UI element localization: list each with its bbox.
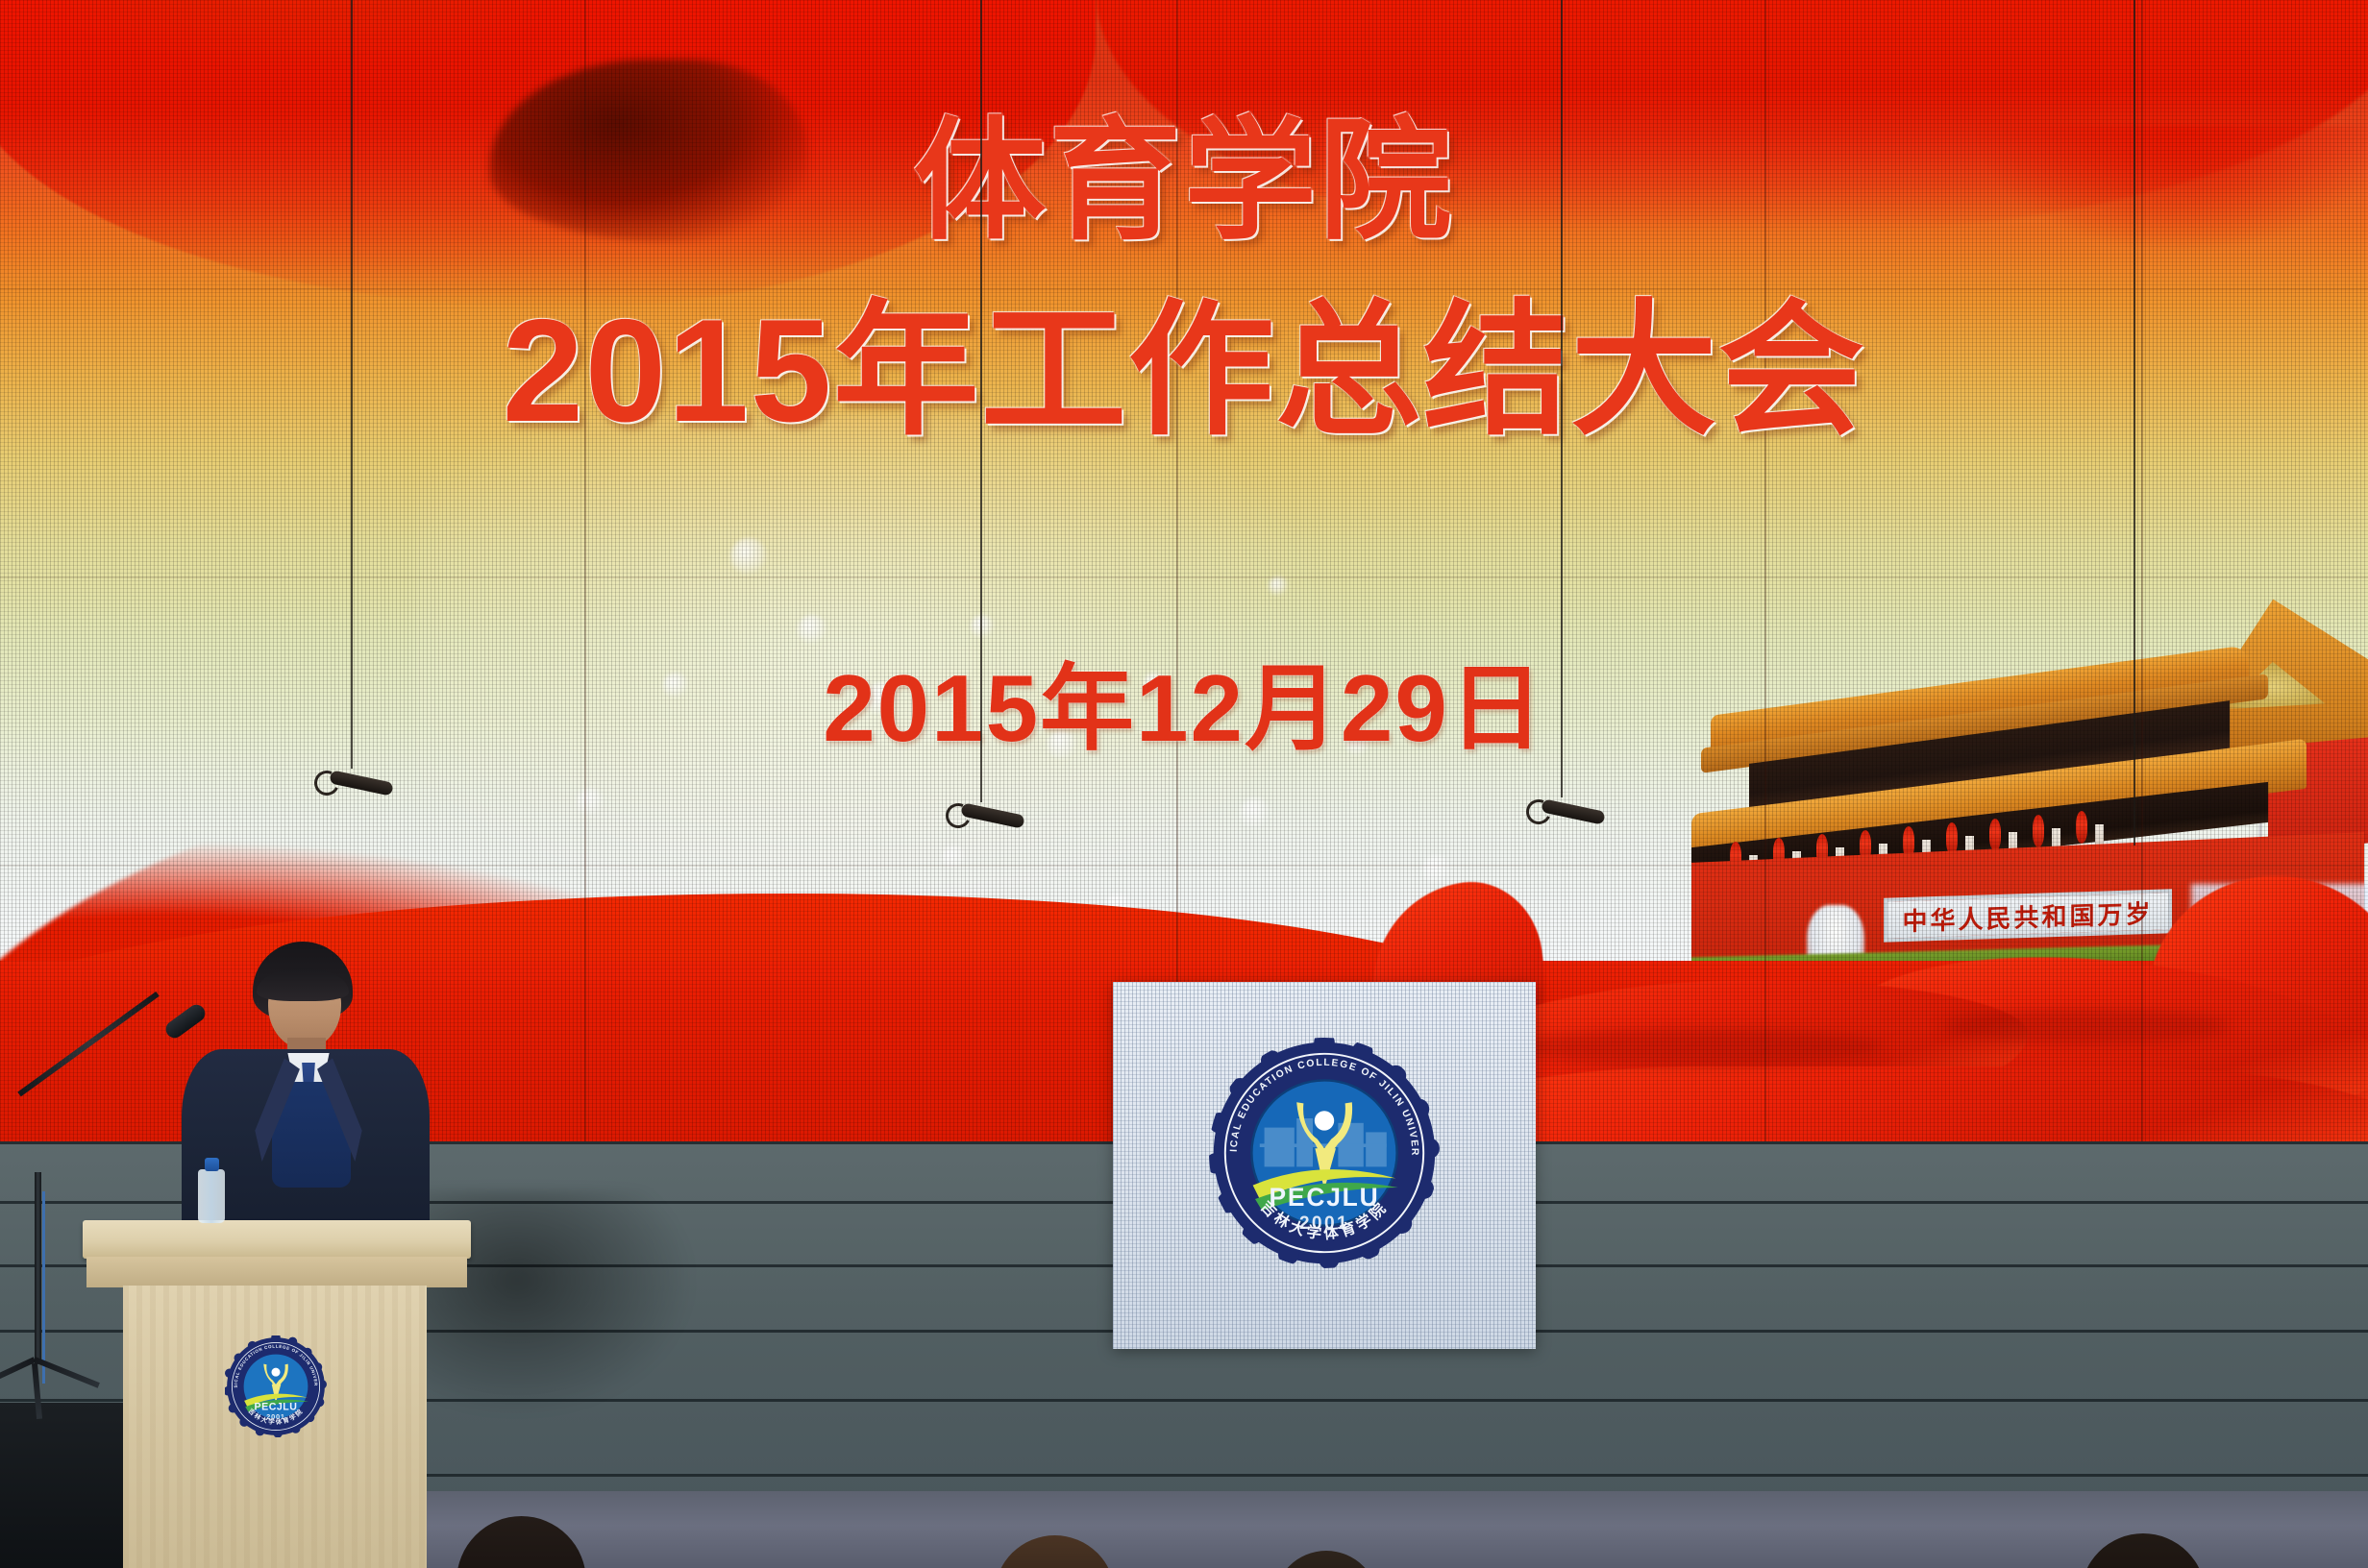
- title-line-1: 体育学院: [0, 115, 2368, 248]
- mic-tripod-leg: [0, 1357, 36, 1394]
- mic-cable: [2134, 0, 2135, 845]
- mic-cable: [980, 0, 982, 802]
- podium-college-emblem-icon: PECJLU 2001 PHYSICAL EDUCATION COLLEGE O…: [225, 1335, 327, 1437]
- emblem-display-panel: PECJLU 2001 PHYSICAL EDUCATION COLLEGE O…: [1113, 982, 1536, 1349]
- bottle-cap: [205, 1158, 219, 1171]
- mic-tripod-leg: [32, 1363, 42, 1419]
- title-line-2: 2015年工作总结大会: [0, 298, 2368, 444]
- mic-cable: [1561, 0, 1563, 797]
- water-bottle: [198, 1158, 225, 1223]
- mic-vertical-pole: [35, 1172, 41, 1364]
- emblem-acronym: PECJLU: [1270, 1183, 1380, 1212]
- conference-stage-photo: 中华人民共和国万岁 体育学院 201: [0, 0, 2368, 1568]
- event-date: 2015年12月29日: [0, 661, 2368, 755]
- college-emblem-icon: PECJLU 2001 PHYSICAL EDUCATION COLLEGE O…: [1209, 1038, 1440, 1268]
- floor-microphone-stand: [0, 1018, 231, 1422]
- bottle-body: [198, 1169, 225, 1223]
- black-equipment-box: [0, 1403, 139, 1568]
- mic-cable: [42, 1191, 45, 1384]
- podium-emblem-acronym: PECJLU: [255, 1401, 298, 1412]
- mic-cable: [351, 0, 353, 769]
